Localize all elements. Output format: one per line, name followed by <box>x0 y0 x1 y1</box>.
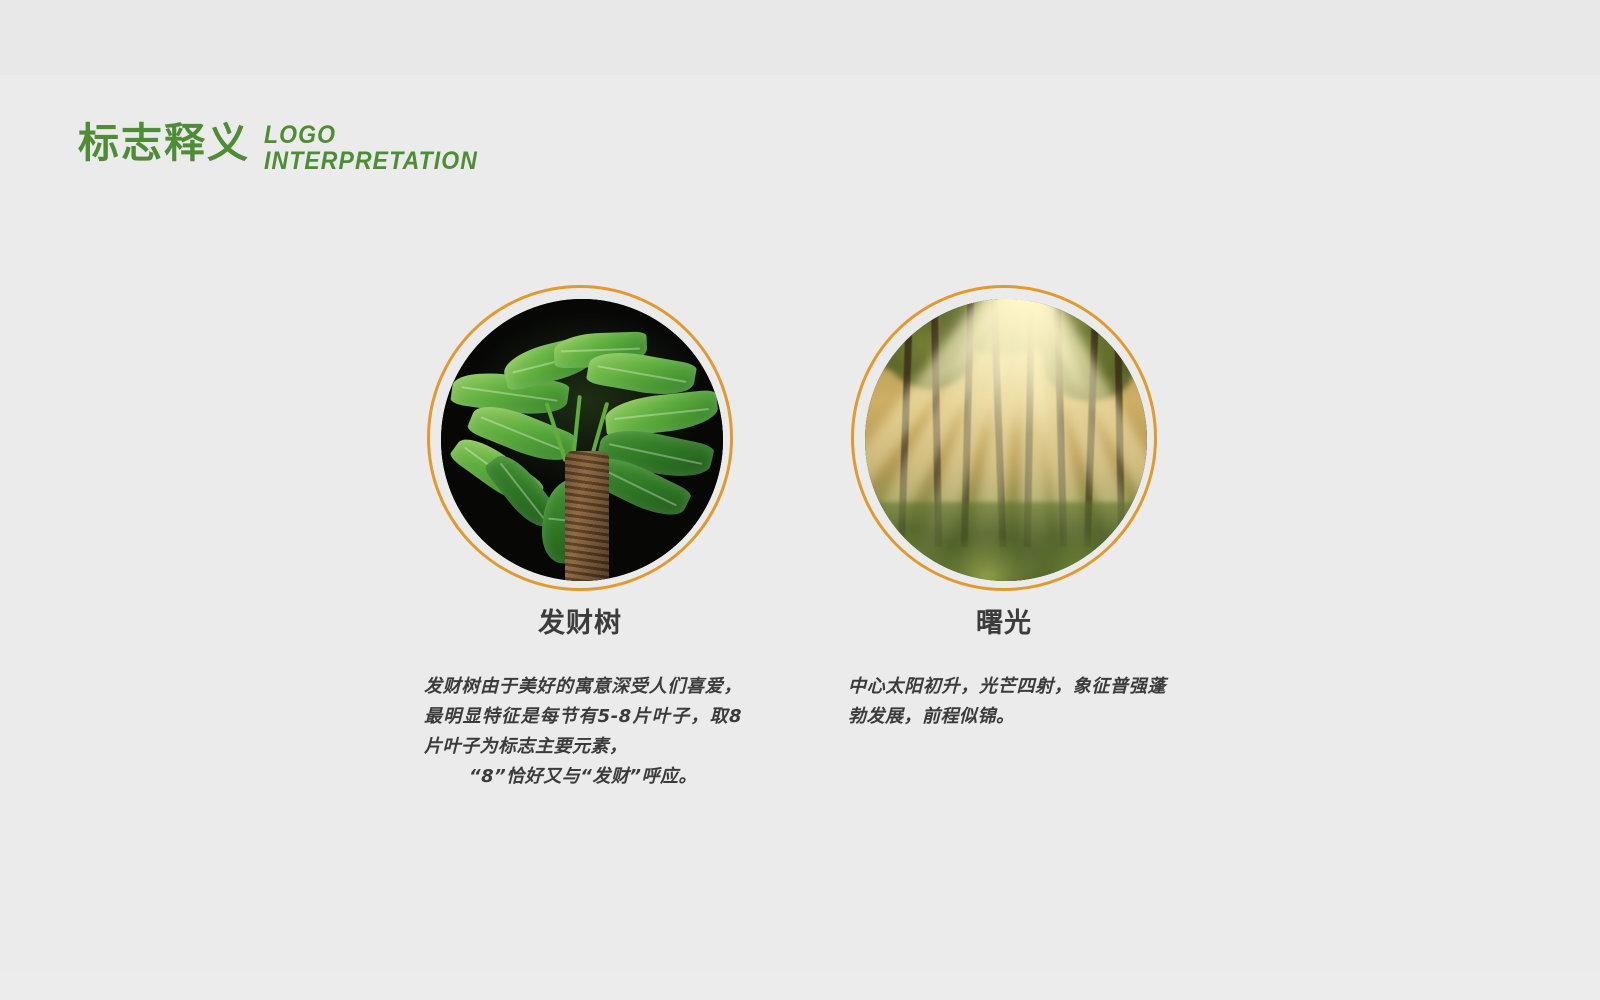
description-money-tree: 发财树由于美好的寓意深受人们喜爱，最明显特征是每节有5-8片叶子，取8片叶子为标… <box>424 672 742 792</box>
caption-title-money-tree: 发财树 <box>427 606 733 642</box>
caption-dawn-light: 曙光 <box>851 606 1157 642</box>
description-dawn-light: 中心太阳初升，光芒四射，象征普强蓬勃发展，前程似锦。 <box>848 672 1166 732</box>
sunlit-forest-photo <box>865 299 1147 581</box>
forest-undergrowth <box>865 502 1147 581</box>
tree-trunk <box>565 451 609 581</box>
medallion-image-dawn-light <box>865 299 1147 581</box>
medallion-ring-money-tree <box>427 285 733 591</box>
medallion-ring-dawn-light <box>851 285 1157 591</box>
description-money-tree-lastline: “8”恰好又与“发财”呼应。 <box>424 762 742 792</box>
column-money-tree <box>427 285 733 591</box>
content-columns <box>0 0 1600 1000</box>
slide-canvas: 标志释义 LOGO INTERPRETATION <box>0 0 1600 1000</box>
money-tree-photo <box>441 299 723 581</box>
caption-money-tree: 发财树 <box>427 606 733 642</box>
description-money-tree-main: 发财树由于美好的寓意深受人们喜爱，最明显特征是每节有5-8片叶子，取8片叶子为标… <box>424 676 742 757</box>
description-dawn-light-main: 中心太阳初升，光芒四射，象征普强蓬勃发展，前程似锦。 <box>848 676 1166 727</box>
column-dawn-light <box>851 285 1157 591</box>
caption-title-dawn-light: 曙光 <box>851 606 1157 642</box>
medallion-image-money-tree <box>441 299 723 581</box>
